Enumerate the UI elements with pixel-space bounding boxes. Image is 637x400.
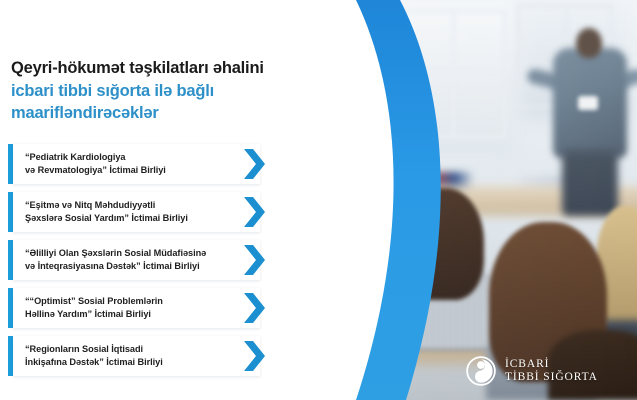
chevron-right-icon[interactable] bbox=[242, 196, 268, 228]
poster-canvas: Qeyri-hökumət təşkilatları əhalini icbar… bbox=[0, 0, 637, 400]
list-item[interactable]: “Regionların Sosial İqtisadi İnkişafına … bbox=[8, 336, 298, 376]
page-title-line-1: Qeyri-hökumət təşkilatları əhalini bbox=[11, 57, 351, 80]
item-text-line-1: “Regionların Sosial İqtisadi bbox=[25, 343, 163, 356]
list-item[interactable]: “Əlilliyi Olan Şəxslərin Sosial Müdafiəs… bbox=[8, 240, 298, 280]
item-text-line-1: “Pediatrik Kardiologiya bbox=[25, 151, 166, 164]
item-text-line-2: və Revmatologiya” İctimai Birliyi bbox=[25, 164, 166, 177]
chevron-right-icon[interactable] bbox=[242, 292, 268, 324]
item-text-line-2: İnkişafına Dəstək” İctimai Birliyi bbox=[25, 356, 163, 369]
page-title-line-2: icbari tibbi sığorta ilə bağlı bbox=[11, 80, 351, 103]
content-column: Qeyri-hökumət təşkilatları əhalini icbar… bbox=[0, 0, 360, 400]
item-body[interactable]: ““Optimist” Sosial Problemlərin Həllinə … bbox=[13, 288, 260, 328]
item-text: “Regionların Sosial İqtisadi İnkişafına … bbox=[13, 343, 163, 368]
list-item[interactable]: “Pediatrik Kardiologiya və Revmatologiya… bbox=[8, 144, 298, 184]
item-text: “Pediatrik Kardiologiya və Revmatologiya… bbox=[13, 151, 166, 176]
chevron-right-icon[interactable] bbox=[242, 244, 268, 276]
icbari-tibbi-sigorta-mark-icon bbox=[466, 356, 496, 386]
item-text-line-2: Həllinə Yardım” İctimai Birliyi bbox=[25, 308, 163, 321]
brand-logo-text: İCBARİ TİBBİ SIĞORTA bbox=[505, 358, 598, 385]
brand-logo-line-2: TİBBİ SIĞORTA bbox=[505, 371, 598, 385]
item-text-line-1: “Eşitmə və Nitq Məhdudiyyətli bbox=[25, 199, 188, 212]
item-text-line-2: və İnteqrasiyasına Dəstək” İctimai Birli… bbox=[25, 260, 206, 273]
item-text-line-2: Şəxslərə Sosial Yardım” İctimai Birliyi bbox=[25, 212, 188, 225]
item-body[interactable]: “Pediatrik Kardiologiya və Revmatologiya… bbox=[13, 144, 260, 184]
brand-logo-line-1: İCBARİ bbox=[505, 358, 598, 372]
item-text-line-1: ““Optimist” Sosial Problemlərin bbox=[25, 295, 163, 308]
chevron-right-icon[interactable] bbox=[242, 340, 268, 372]
item-body[interactable]: “Regionların Sosial İqtisadi İnkişafına … bbox=[13, 336, 260, 376]
ngo-list: “Pediatrik Kardiologiya və Revmatologiya… bbox=[8, 144, 298, 384]
item-text: ““Optimist” Sosial Problemlərin Həllinə … bbox=[13, 295, 163, 320]
page-title-line-3: maarifləndirəcəklər bbox=[11, 102, 351, 125]
chevron-right-icon[interactable] bbox=[242, 148, 268, 180]
item-text: “Eşitmə və Nitq Məhdudiyyətli Şəxslərə S… bbox=[13, 199, 188, 224]
item-body[interactable]: “Əlilliyi Olan Şəxslərin Sosial Müdafiəs… bbox=[13, 240, 260, 280]
page-title: Qeyri-hökumət təşkilatları əhalini icbar… bbox=[11, 57, 351, 125]
item-text: “Əlilliyi Olan Şəxslərin Sosial Müdafiəs… bbox=[13, 247, 206, 272]
item-body[interactable]: “Eşitmə və Nitq Məhdudiyyətli Şəxslərə S… bbox=[13, 192, 260, 232]
brand-logo: İCBARİ TİBBİ SIĞORTA bbox=[466, 356, 598, 386]
item-text-line-1: “Əlilliyi Olan Şəxslərin Sosial Müdafiəs… bbox=[25, 247, 206, 260]
list-item[interactable]: ““Optimist” Sosial Problemlərin Həllinə … bbox=[8, 288, 298, 328]
list-item[interactable]: “Eşitmə və Nitq Məhdudiyyətli Şəxslərə S… bbox=[8, 192, 298, 232]
